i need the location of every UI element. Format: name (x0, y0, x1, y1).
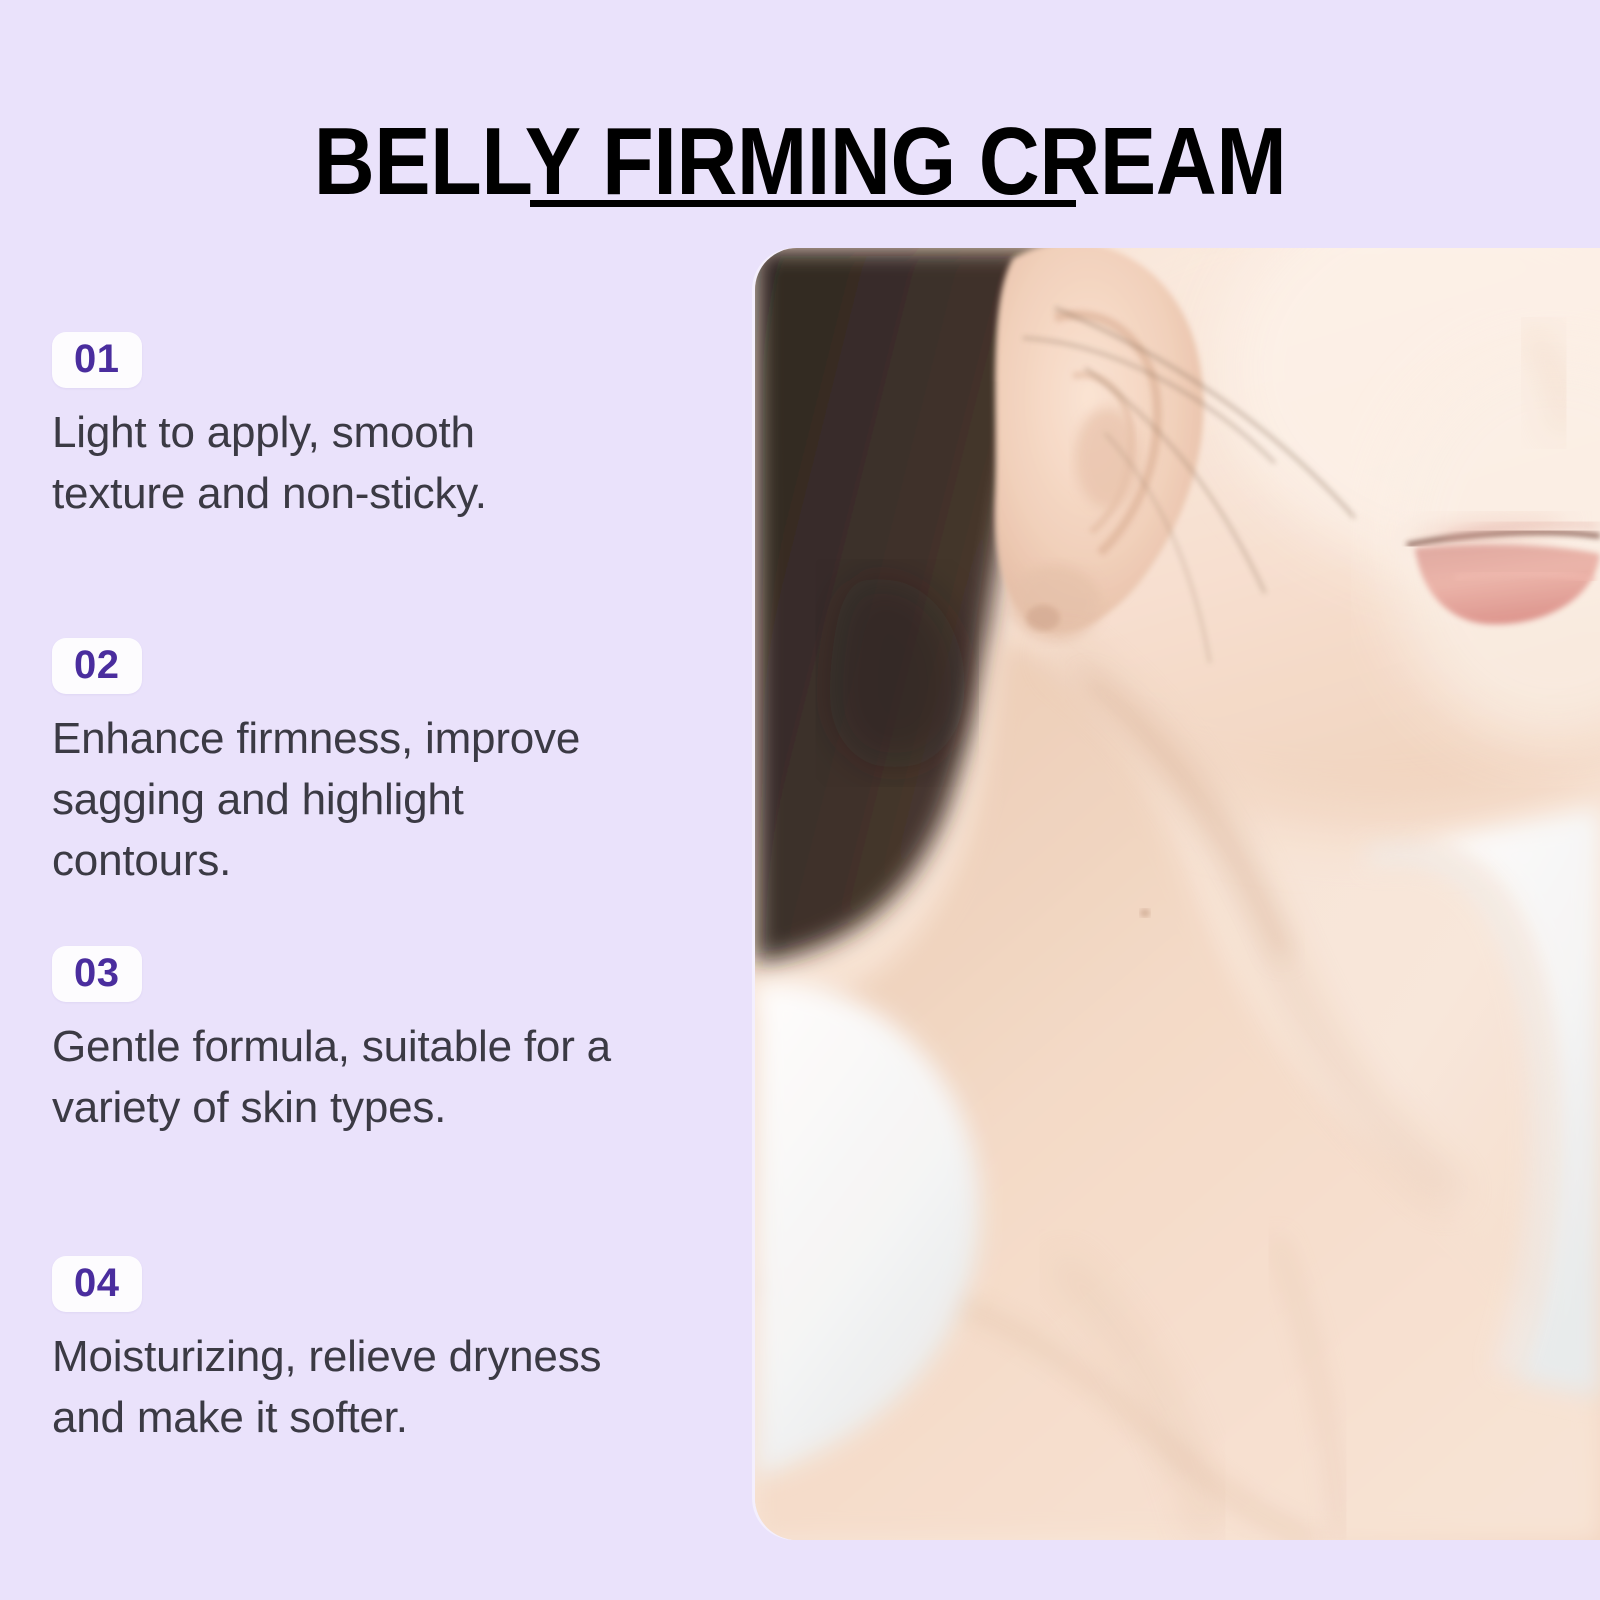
model-photo-illustration (755, 248, 1600, 1540)
list-item: 04 Moisturizing, relieve dryness and mak… (52, 1256, 724, 1448)
feature-number-badge: 04 (52, 1256, 142, 1312)
feature-description: Moisturizing, relieve dryness and make i… (52, 1326, 724, 1448)
feature-number-badge: 01 (52, 332, 142, 388)
model-photo (755, 248, 1600, 1540)
feature-number: 03 (74, 951, 120, 995)
feature-description: Gentle formula, suitable for a variety o… (52, 1016, 724, 1138)
feature-description: Enhance firmness, improve sagging and hi… (52, 708, 724, 891)
feature-number-badge: 03 (52, 946, 142, 1002)
page-title: BELLY FIRMING CREAM (96, 110, 1504, 214)
feature-number: 01 (74, 337, 120, 381)
list-item: 01 Light to apply, smooth texture and no… (52, 332, 724, 524)
list-item: 03 Gentle formula, suitable for a variet… (52, 946, 724, 1138)
title-underline-rule (530, 200, 1076, 207)
feature-number: 04 (74, 1261, 120, 1305)
feature-number-badge: 02 (52, 638, 142, 694)
infographic-page: BELLY FIRMING CREAM 01 Light to apply, s… (0, 0, 1600, 1600)
feature-description: Light to apply, smooth texture and non-s… (52, 402, 724, 524)
list-item: 02 Enhance firmness, improve sagging and… (52, 638, 724, 891)
feature-number: 02 (74, 643, 120, 687)
